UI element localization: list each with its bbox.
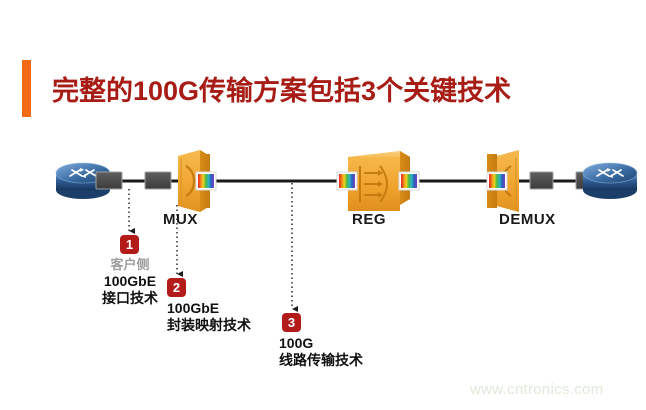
callout-badge-2: 2 [167,278,186,297]
router-icon-right [583,163,637,199]
callout-text-3: 100G 线路传输技术 [279,335,363,369]
device-label-reg: REG [352,211,386,228]
callout-badge-3: 3 [282,313,301,332]
callout-3-line1: 100G [279,335,363,352]
callout-1-subtitle: 客户侧 [80,256,180,273]
demux-device [487,150,519,212]
device-label-mux: MUX [163,211,198,228]
callout-text-1: 客户侧 100GbE 接口技术 [80,256,180,307]
callout-3-line2: 线路传输技术 [279,352,363,369]
callout-text-2: 100GbE 封装映射技术 [167,300,251,334]
connector-block [145,172,171,189]
callout-1-line2: 接口技术 [80,290,180,307]
callout-2-line2: 封装映射技术 [167,317,251,334]
connector-block [96,172,122,189]
callout-1-line1: 100GbE [80,273,180,290]
site-watermark: www.cntronics.com [470,381,603,398]
connector-block [530,172,553,189]
device-label-demux: DEMUX [499,211,556,228]
reg-device [337,151,419,211]
callout-2-line1: 100GbE [167,300,251,317]
mux-device [178,150,216,212]
callout-badge-1: 1 [120,235,139,254]
